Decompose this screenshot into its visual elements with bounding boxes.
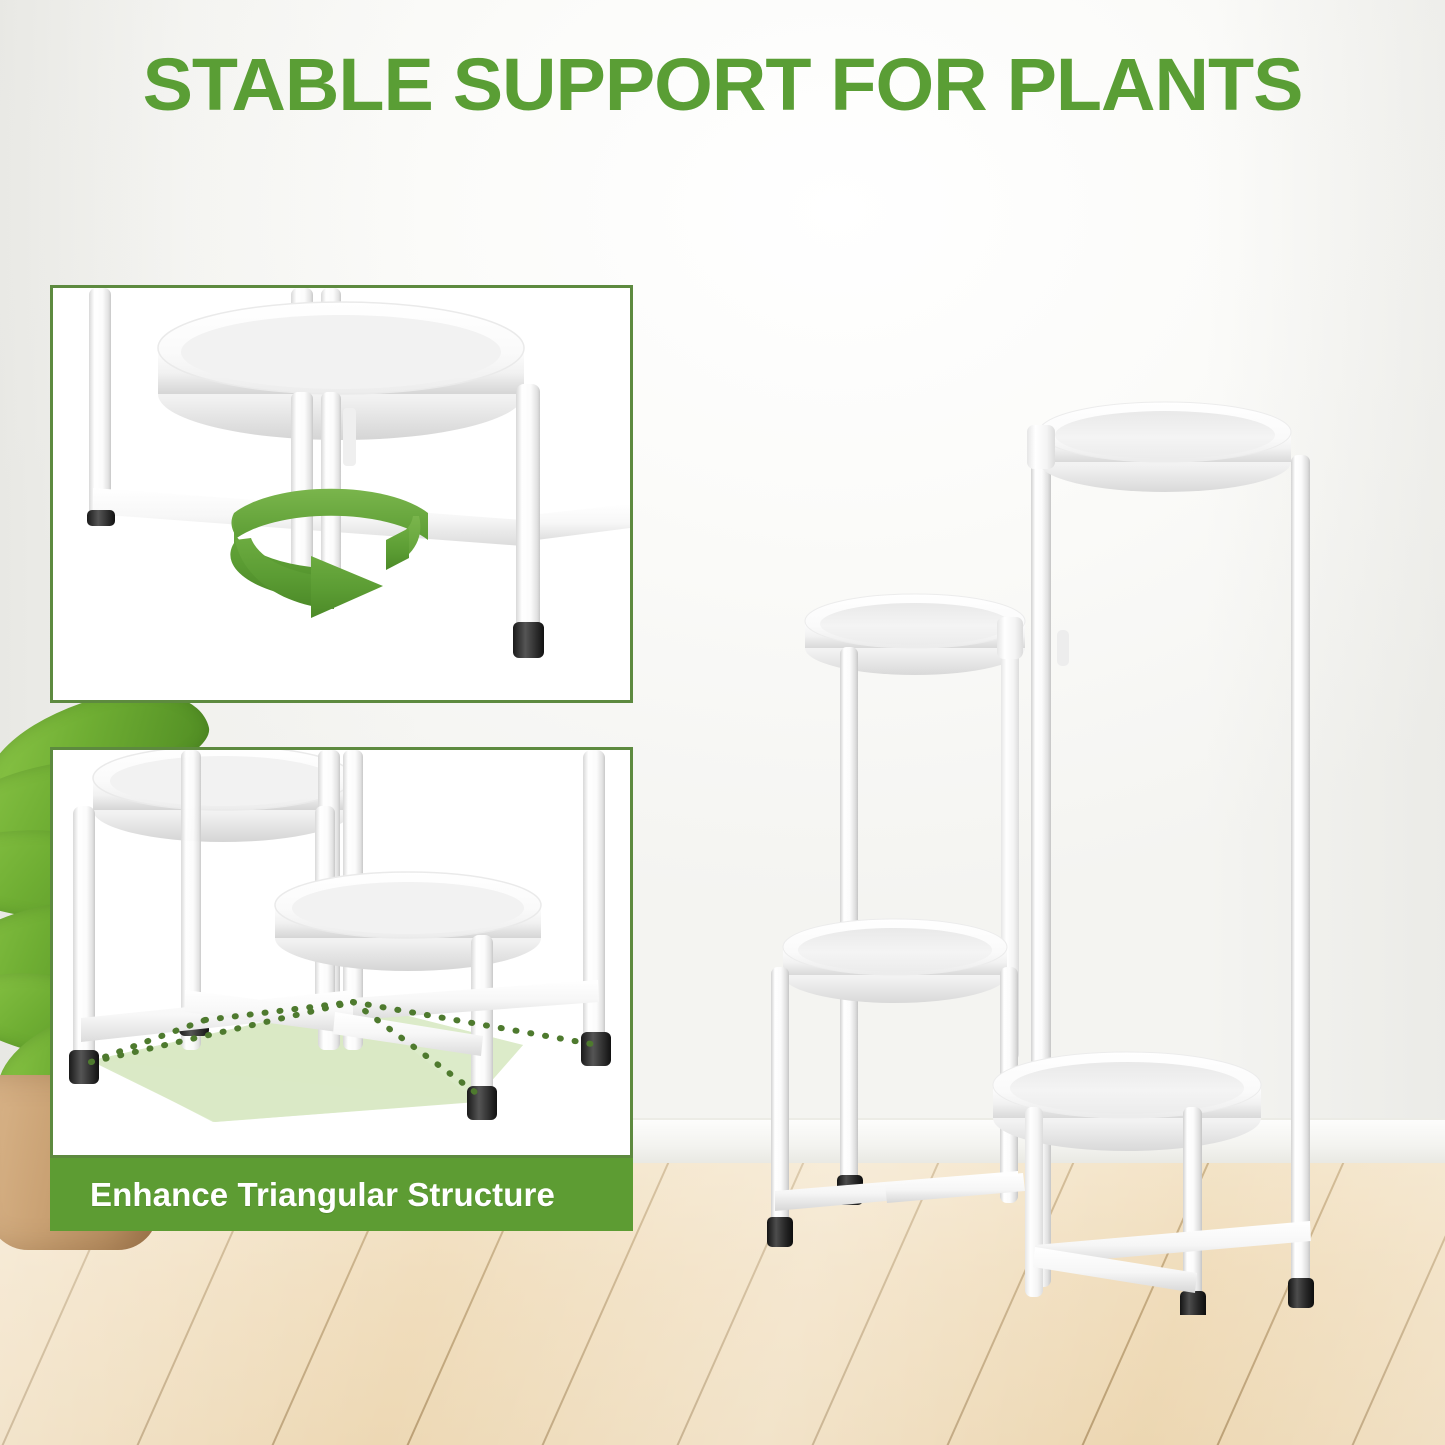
triangular-base-illustration: [53, 750, 630, 1155]
panel-triangular-base-detail: [50, 747, 633, 1158]
panel-rotation-detail: [50, 285, 633, 703]
tier-3-tray: [783, 919, 1007, 1003]
plant-stand-svg: [735, 385, 1375, 1315]
page-title: STABLE SUPPORT FOR PLANTS: [0, 42, 1445, 127]
rotation-detail-illustration: [53, 288, 630, 700]
tier-2-tray: [805, 594, 1025, 675]
lower-tray: [275, 872, 541, 971]
upper-tray: [93, 750, 353, 842]
plant-stand-product: [735, 385, 1375, 1315]
tier-1-tray: [1039, 402, 1291, 492]
caption-label: Enhance Triangular Structure: [90, 1176, 555, 1214]
caption-bar: Enhance Triangular Structure: [50, 1158, 633, 1231]
